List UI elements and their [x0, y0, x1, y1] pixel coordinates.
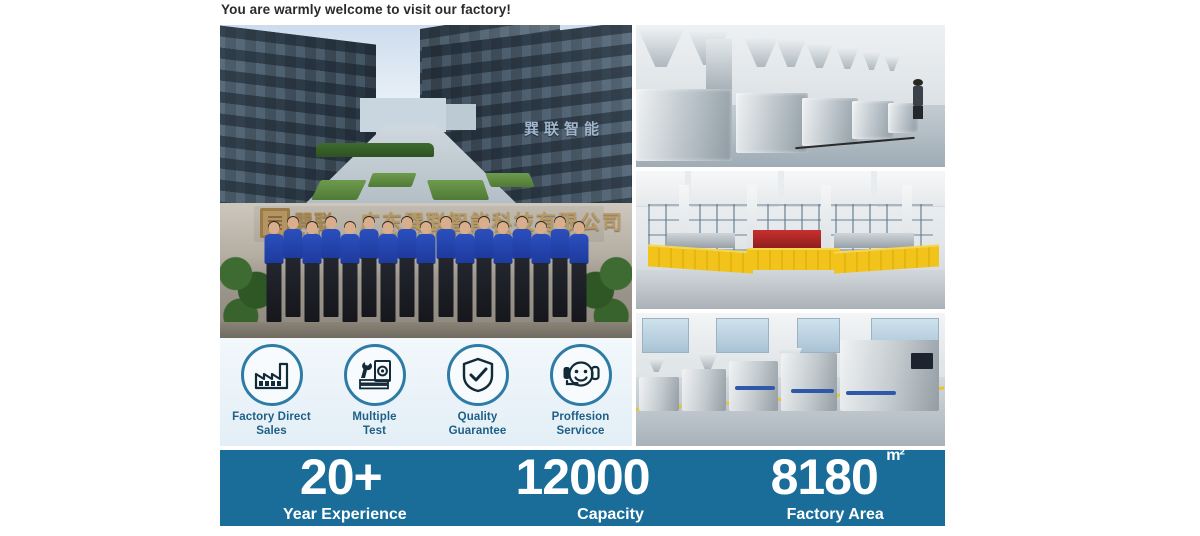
- staff-member: [378, 222, 398, 322]
- staff-member: [436, 217, 456, 317]
- stat-unit-superscript: m²: [886, 448, 904, 464]
- headset-icon: [562, 359, 600, 391]
- workshop-floor: [636, 270, 945, 309]
- stat-label: Capacity: [518, 506, 704, 524]
- feature-label-line1: Quality: [458, 411, 498, 423]
- features-strip: Factory Direct Sales Multiple: [220, 338, 632, 446]
- right-column: [636, 25, 945, 446]
- tools-icon-circle: [344, 344, 406, 406]
- staff-member: [531, 222, 551, 322]
- staff-member: [359, 217, 379, 317]
- conveyor-belt: [791, 389, 834, 393]
- ceiling-beam: [871, 171, 877, 207]
- feature-quality-guarantee[interactable]: Quality Guarantee: [430, 344, 526, 439]
- feature-factory-direct-sales[interactable]: Factory Direct Sales: [224, 344, 320, 439]
- machine-body: [639, 377, 679, 412]
- machine-body: [802, 98, 858, 146]
- staff-member: [397, 217, 417, 317]
- machine-body: [736, 93, 808, 153]
- page-title: You are warmly welcome to visit our fact…: [221, 2, 511, 17]
- stat-number-value: 8180: [771, 449, 878, 505]
- stat-label: Factory Area: [725, 506, 945, 524]
- staff-member: [283, 217, 303, 317]
- stat-label: Year Experience: [228, 506, 462, 524]
- feature-label-line2: Servicce: [556, 425, 604, 437]
- machine-body: [682, 369, 725, 412]
- control-panel: [911, 353, 933, 369]
- window: [716, 318, 769, 353]
- feature-label: Quality Guarantee: [430, 410, 526, 439]
- building-sign-text: 巽联智能: [524, 118, 604, 139]
- feature-label-line1: Multiple: [352, 411, 396, 423]
- lawn-patch: [367, 173, 416, 187]
- stats-banner: 20+ Year Experience 12000 Capacity 8180m…: [220, 450, 945, 526]
- safety-barrier: [747, 248, 840, 270]
- factory-buildings-photo: 巽联智能: [220, 25, 632, 203]
- staff-member: [474, 217, 494, 317]
- machine-body: [840, 340, 939, 412]
- feature-multiple-test[interactable]: Multiple Test: [327, 344, 423, 439]
- window: [797, 318, 840, 353]
- factory-showcase-page: You are warmly welcome to visit our fact…: [0, 0, 1200, 536]
- machine-body: [781, 353, 837, 412]
- stat-number: 12000: [515, 452, 649, 502]
- lawn-patch: [485, 173, 535, 187]
- worker-figure: [913, 79, 923, 119]
- feature-label: Multiple Test: [327, 410, 423, 439]
- staff-member: [302, 222, 322, 322]
- stat-capacity: 12000 Capacity: [462, 452, 704, 524]
- ceiling-beam: [778, 171, 784, 207]
- lawn-patch: [311, 180, 367, 200]
- production-line-photo: [636, 313, 945, 446]
- staff-member: [416, 222, 436, 322]
- conveyor-belt: [735, 386, 775, 390]
- staff-member: [493, 222, 513, 322]
- factory-icon-circle: [241, 344, 303, 406]
- stat-number: 20+: [300, 452, 382, 502]
- feature-label: Factory Direct Sales: [224, 410, 320, 439]
- stat-factory-area: 8180m² Factory Area: [703, 452, 945, 524]
- lawn-patch: [427, 180, 489, 200]
- shield-check-icon-circle: [447, 344, 509, 406]
- machine-body: [636, 89, 732, 161]
- feature-label-line2: Guarantee: [449, 425, 507, 437]
- feature-label-line1: Factory Direct: [232, 411, 311, 423]
- stat-number: 8180m²: [771, 452, 878, 502]
- staff-member: [321, 217, 341, 317]
- tools-icon: [357, 358, 393, 392]
- team-photo: 巽联 Sunlit 广东巽联智能科技有限公司 Guangdong Sunlit …: [220, 203, 632, 338]
- staff-member: [512, 217, 532, 317]
- staff-member: [550, 217, 570, 317]
- hedge: [316, 143, 434, 157]
- stat-year-experience: 20+ Year Experience: [220, 452, 462, 524]
- staff-member: [569, 222, 589, 322]
- workshop-barriers-photo: [636, 171, 945, 309]
- feature-label-line2: Sales: [256, 425, 287, 437]
- feature-label-line1: Proffesion: [552, 411, 610, 423]
- factory-icon: [254, 360, 290, 390]
- feature-label-line2: Test: [363, 425, 386, 437]
- staff-group: [264, 222, 588, 322]
- shield-check-icon: [462, 357, 494, 393]
- window: [642, 318, 688, 353]
- staff-member: [264, 222, 284, 322]
- red-machine: [753, 230, 821, 248]
- staff-member: [455, 222, 475, 322]
- floor: [220, 322, 632, 338]
- feature-professional-service[interactable]: Proffesion Servicce: [533, 344, 629, 439]
- left-column: 巽联智能 巽联 Sunlit 广东巽联智能科技有限公司 Guangdong Su…: [220, 25, 632, 446]
- headset-icon-circle: [550, 344, 612, 406]
- hopper-machines-photo: [636, 25, 945, 167]
- feature-label: Proffesion Servicce: [533, 410, 629, 439]
- staff-member: [340, 222, 360, 322]
- conveyor-belt: [846, 391, 895, 395]
